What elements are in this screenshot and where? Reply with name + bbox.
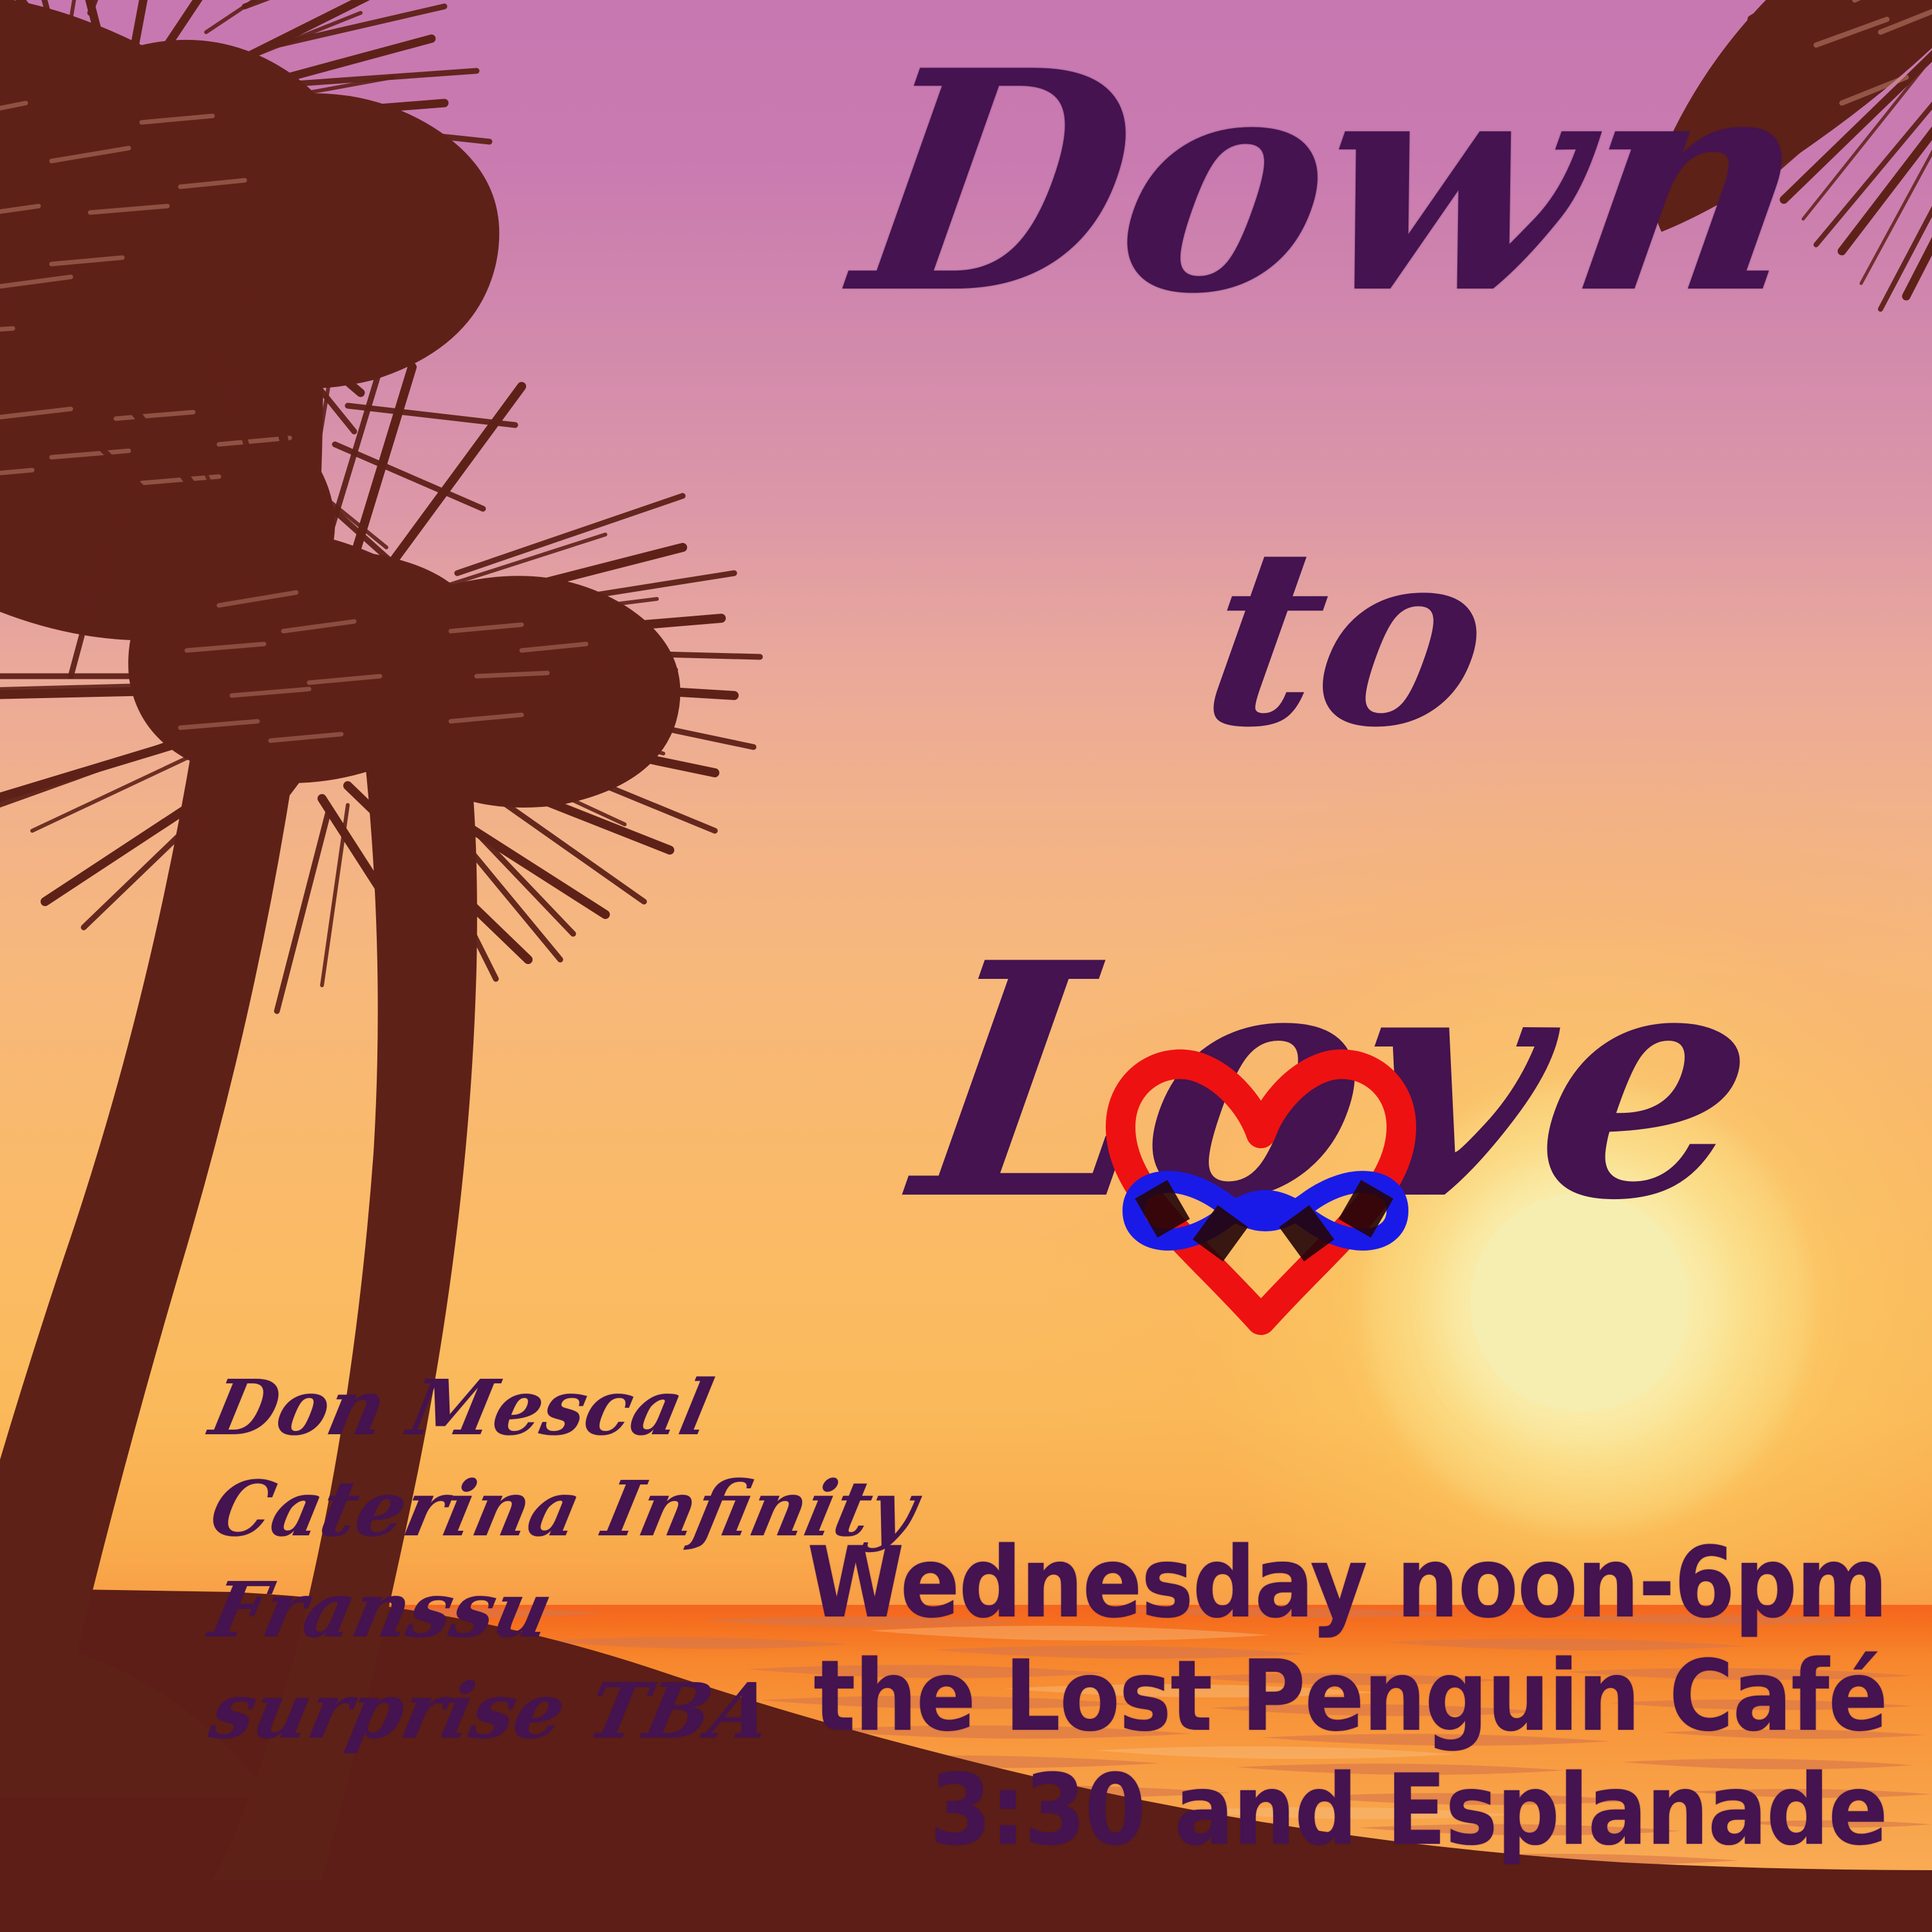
poster-canvas: Down to Love Don Mescal Caterina Infinit… xyxy=(0,0,1932,1932)
lineup-item: Don Mescal xyxy=(202,1358,925,1459)
venue-name: the Lost Penguin Café xyxy=(807,1640,1887,1753)
title-line-down: Down xyxy=(842,31,1823,334)
venue-details: Wednesday noon-6pm the Lost Penguin Café… xyxy=(687,1526,1887,1867)
venue-address: 3:30 and Esplanade xyxy=(807,1754,1887,1867)
title-line-love: Love xyxy=(902,921,1773,1243)
venue-datetime: Wednesday noon-6pm xyxy=(807,1526,1887,1640)
title-line-to: to xyxy=(1191,515,1502,760)
